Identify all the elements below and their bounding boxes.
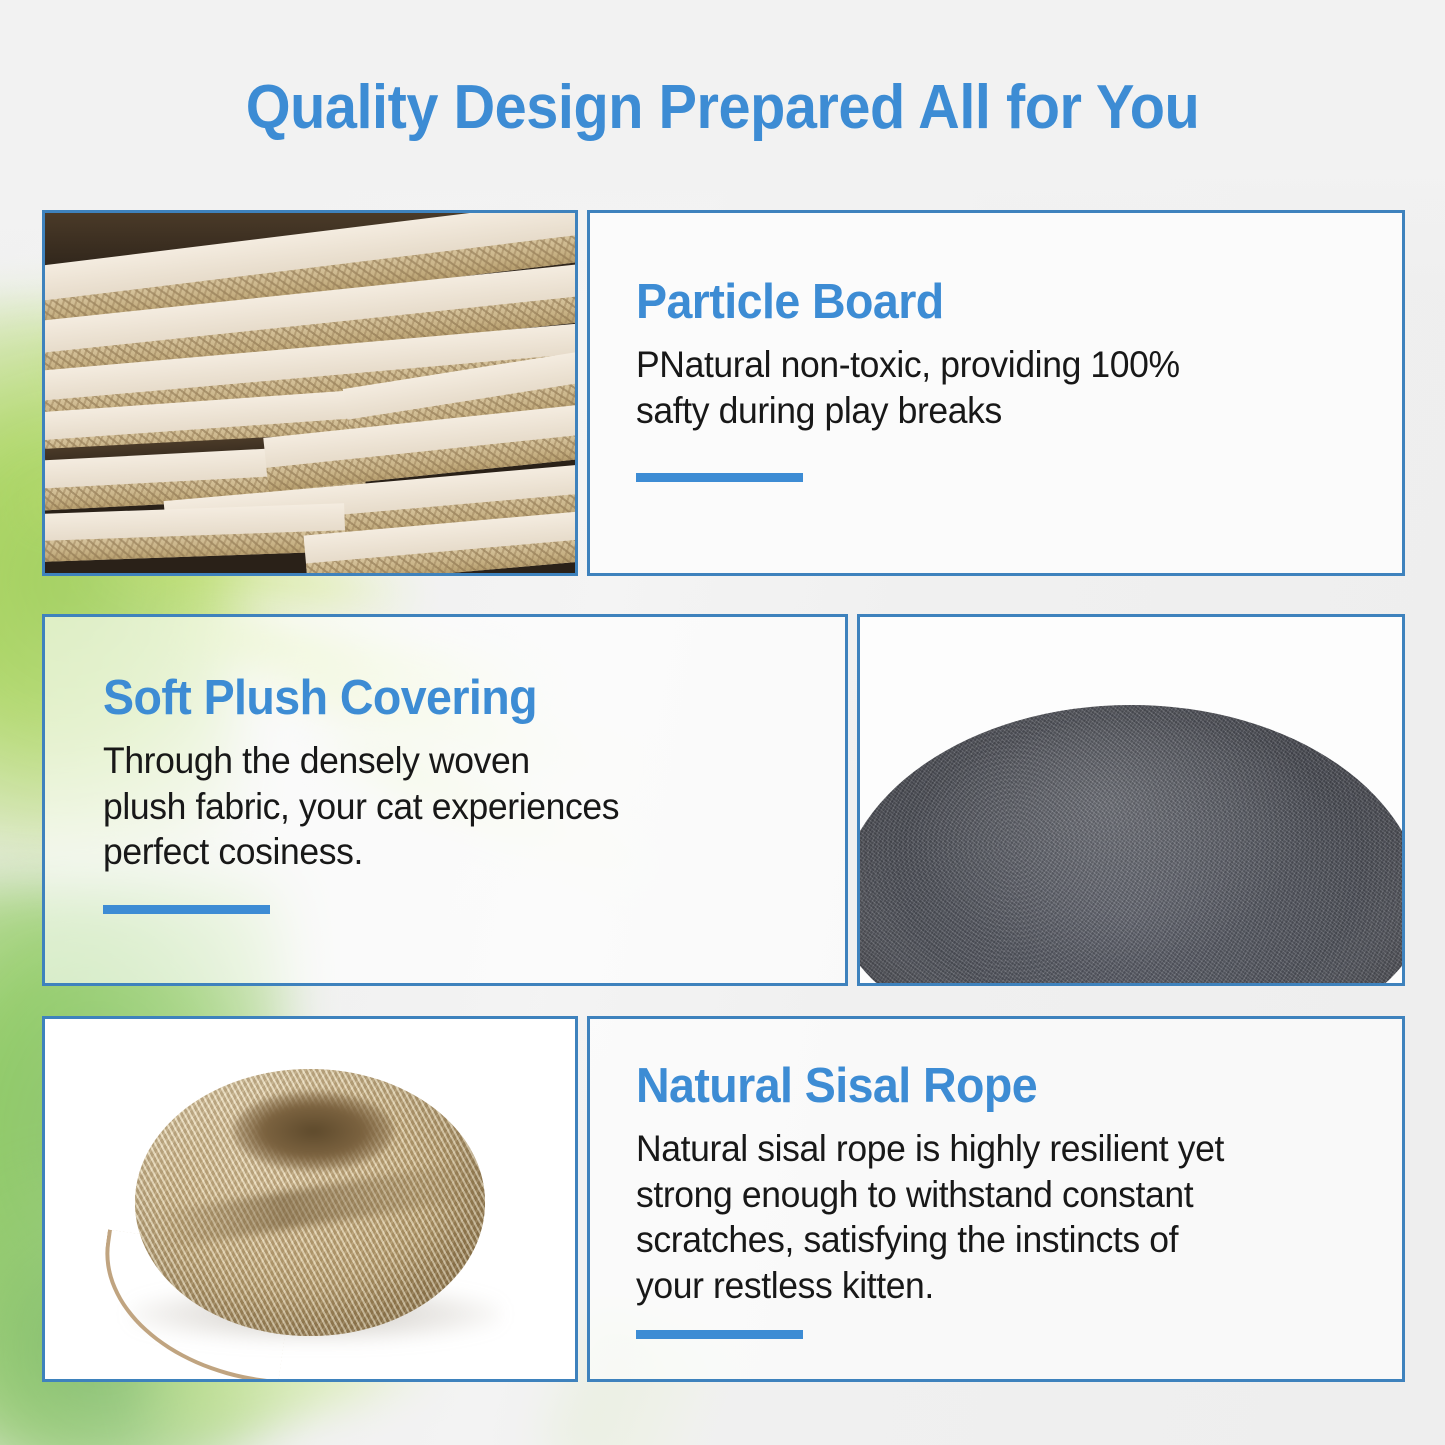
- feature-panel-particle-board: Particle Board PNatural non-toxic, provi…: [42, 210, 1405, 576]
- feature-title-soft-plush-covering: Soft Plush Covering: [103, 673, 770, 724]
- plush-cushion-shape: [857, 705, 1405, 986]
- sisal-rope-photo: [42, 1016, 578, 1382]
- particle-board-text-cell: Particle Board PNatural non-toxic, provi…: [587, 210, 1405, 576]
- sisal-text-cell: Natural Sisal Rope Natural sisal rope is…: [587, 1016, 1405, 1382]
- accent-bar-natural-sisal-rope: [636, 1330, 803, 1339]
- page-title: Quality Design Prepared All for You: [51, 72, 1395, 143]
- sisal-rope-image: [45, 1019, 575, 1379]
- infographic-content: Quality Design Prepared All for You: [0, 0, 1445, 1445]
- accent-bar-soft-plush-covering: [103, 905, 270, 914]
- particle-board-image: [45, 213, 575, 573]
- plush-rim-highlight: [857, 705, 1405, 986]
- feature-body-natural-sisal-rope: Natural sisal rope is highly resilient y…: [636, 1126, 1333, 1308]
- sisal-twine-ball: [135, 1069, 485, 1335]
- particle-board-photo: [42, 210, 578, 576]
- feature-body-soft-plush-covering: Through the densely woven plush fabric, …: [103, 738, 777, 875]
- feature-panel-natural-sisal-rope: Natural Sisal Rope Natural sisal rope is…: [42, 1016, 1405, 1382]
- plush-fabric-image: [860, 617, 1402, 983]
- accent-bar-particle-board: [636, 473, 803, 482]
- feature-panel-soft-plush-covering: Soft Plush Covering Through the densely …: [42, 614, 1405, 986]
- sisal-center-hollow: [233, 1091, 394, 1171]
- plush-text-cell: Soft Plush Covering Through the densely …: [42, 614, 848, 986]
- feature-title-natural-sisal-rope: Natural Sisal Rope: [636, 1061, 1326, 1112]
- plush-fabric-photo: [857, 614, 1405, 986]
- feature-title-particle-board: Particle Board: [636, 277, 1326, 328]
- feature-body-particle-board: PNatural non-toxic, providing 100% safty…: [636, 342, 1333, 433]
